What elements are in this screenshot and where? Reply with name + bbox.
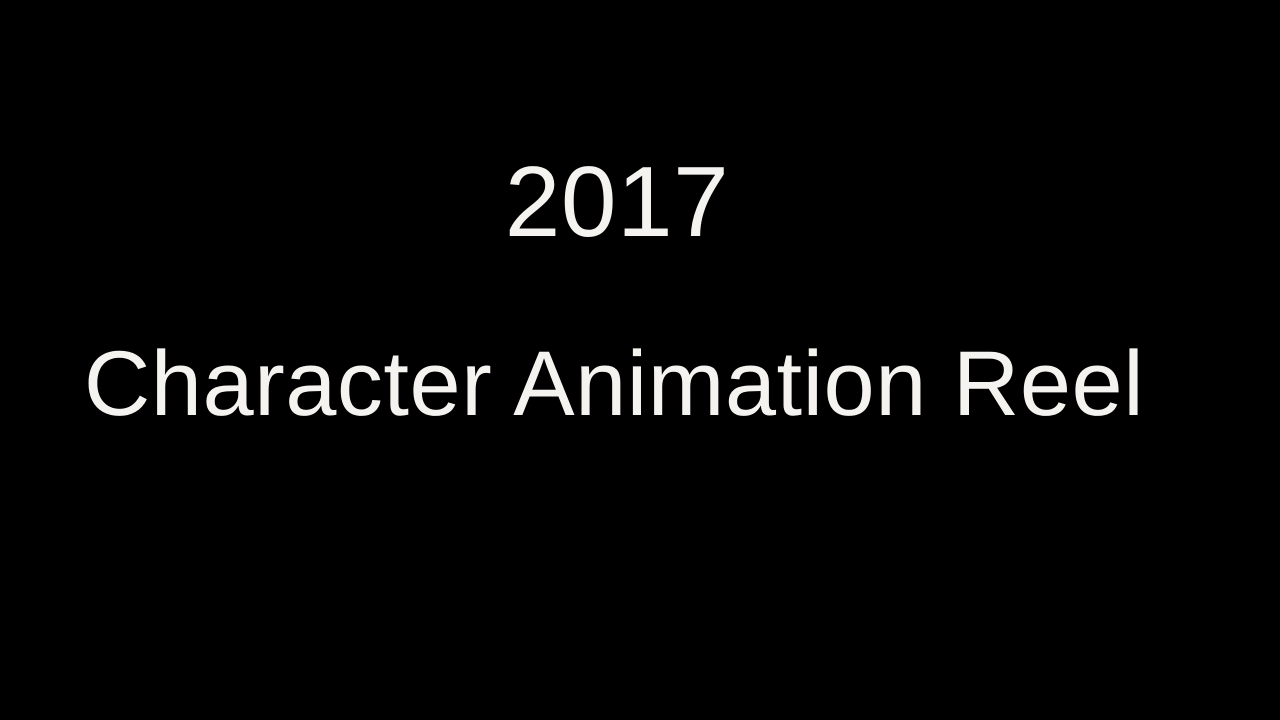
title-subtitle: Character Animation Reel bbox=[84, 338, 1144, 430]
video-frame: 2017 Character Animation Reel bbox=[0, 0, 1280, 720]
title-year: 2017 bbox=[505, 152, 729, 252]
title-card: 2017 Character Animation Reel bbox=[0, 0, 1280, 720]
